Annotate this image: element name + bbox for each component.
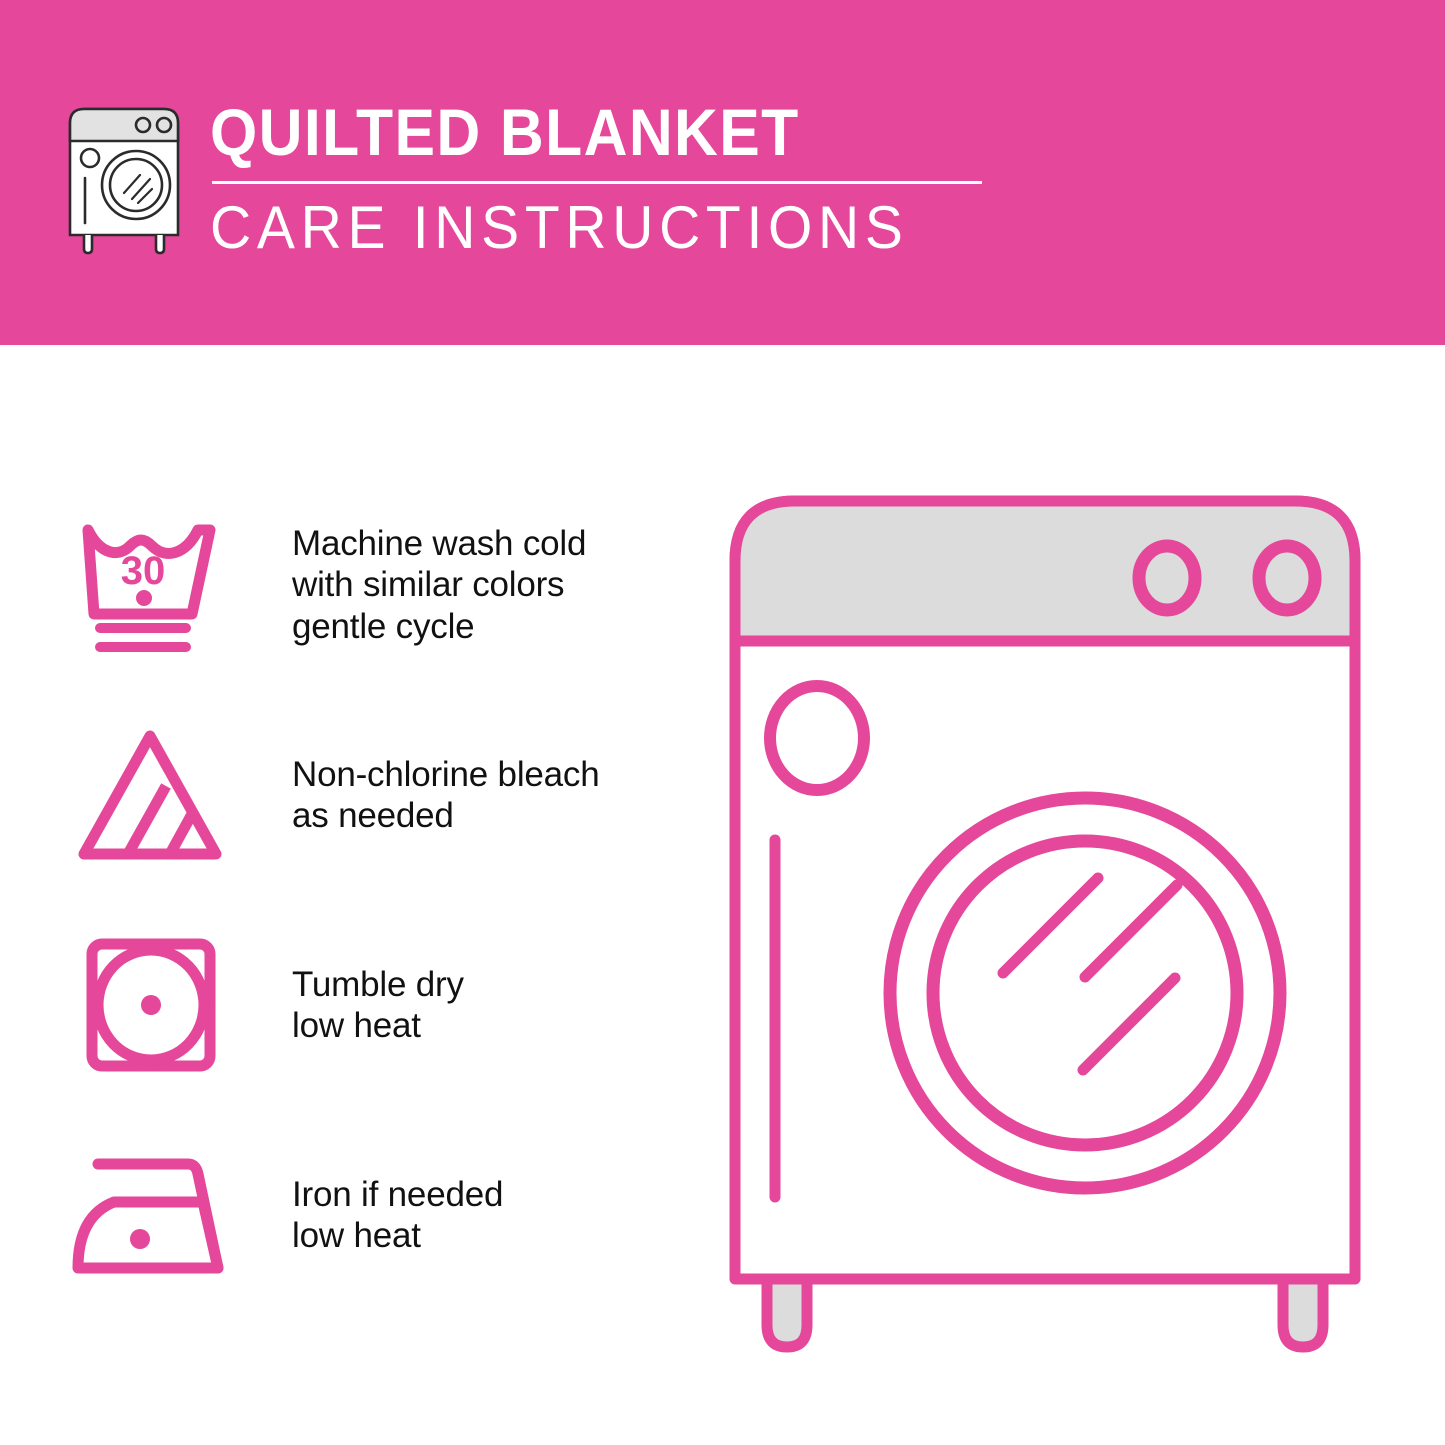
- non-chlorine-bleach-icon: [70, 720, 230, 870]
- title-divider: [212, 181, 982, 184]
- care-row-machine-wash: 30 Machine wash cold with similar colors…: [70, 480, 690, 690]
- header-title-block: QUILTED BLANKET CARE INSTRUCTIONS: [210, 95, 982, 258]
- care-row-tumble-dry: Tumble dry low heat: [70, 900, 690, 1110]
- iron-low-heat-icon: [70, 1140, 230, 1290]
- washing-machine-icon: [60, 95, 188, 255]
- wash-temperature-value: 30: [121, 549, 166, 593]
- header-banner: QUILTED BLANKET CARE INSTRUCTIONS: [0, 0, 1445, 345]
- care-symbol-slot: [70, 1140, 230, 1290]
- care-label-tumble-dry: Tumble dry low heat: [292, 964, 464, 1047]
- care-label-bleach: Non-chlorine bleach as needed: [292, 754, 600, 837]
- page-subtitle: CARE INSTRUCTIONS: [210, 198, 943, 258]
- knob-left-icon: [136, 118, 150, 132]
- care-symbol-slot: 30: [70, 510, 230, 660]
- front-load-washing-machine-illustration: [725, 485, 1405, 1365]
- leg-left: [767, 1275, 807, 1347]
- care-instruction-list: 30 Machine wash cold with similar colors…: [70, 480, 690, 1320]
- care-label-iron: Iron if needed low heat: [292, 1174, 503, 1257]
- knob-right[interactable]: [1259, 546, 1315, 610]
- care-instructions-card: QUILTED BLANKET CARE INSTRUCTIONS 30: [0, 0, 1445, 1445]
- knob-right-icon: [157, 118, 171, 132]
- knob-left[interactable]: [1139, 546, 1195, 610]
- care-symbol-slot: [70, 720, 230, 870]
- tumble-dry-low-icon: [70, 930, 230, 1080]
- detergent-drawer-circle: [770, 686, 864, 790]
- care-label-machine-wash: Machine wash cold with similar colors ge…: [292, 523, 586, 647]
- leg-right: [1283, 1275, 1323, 1347]
- machine-wash-30-gentle-icon: 30: [70, 510, 230, 660]
- header-content: QUILTED BLANKET CARE INSTRUCTIONS: [60, 95, 982, 258]
- care-row-bleach: Non-chlorine bleach as needed: [70, 690, 690, 900]
- care-row-iron: Iron if needed low heat: [70, 1110, 690, 1320]
- page-title: QUILTED BLANKET: [210, 99, 920, 165]
- care-symbol-slot: [70, 930, 230, 1080]
